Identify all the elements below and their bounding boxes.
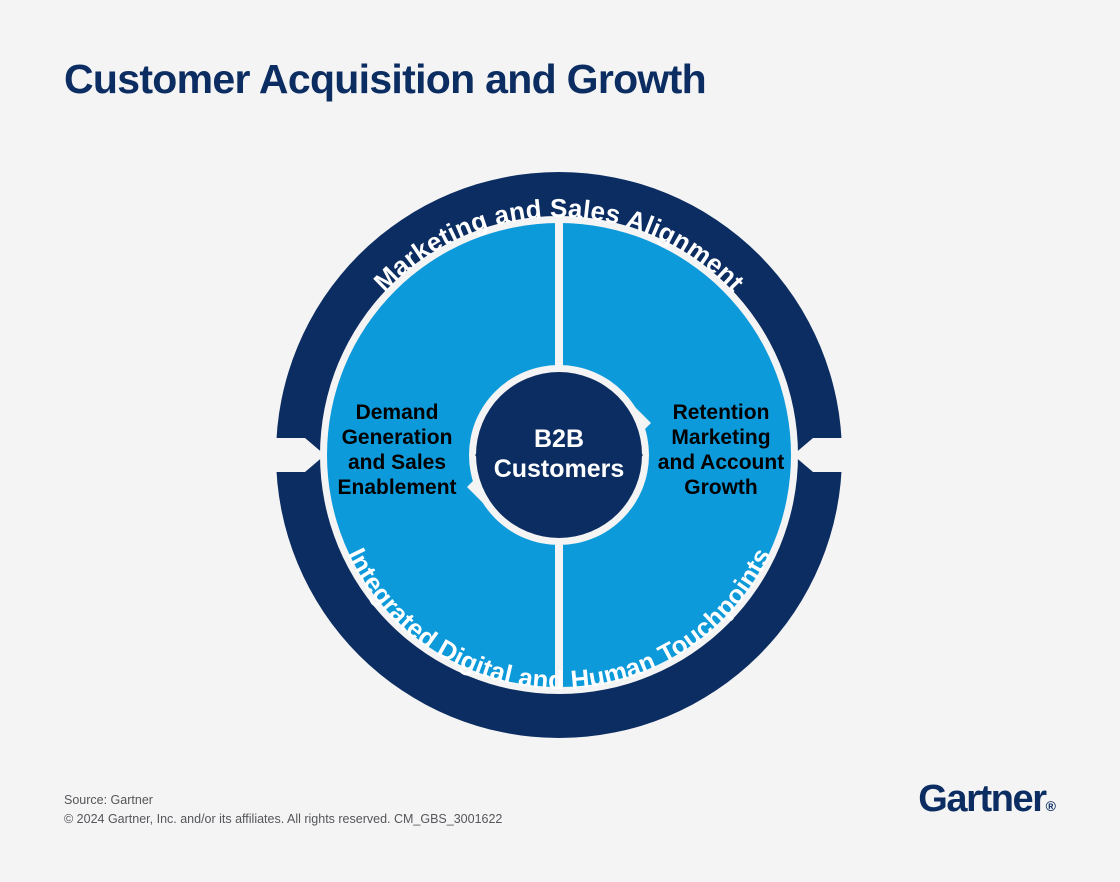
circle-diagram: Marketing and Sales Alignment Integrated…: [259, 155, 859, 745]
segment-right-line-1: Retention: [673, 401, 770, 424]
segment-left-line-1: Demand: [356, 401, 439, 424]
footer-source: Source: Gartner: [64, 791, 502, 810]
hub-line-2: Customers: [494, 455, 625, 483]
footer: Source: Gartner © 2024 Gartner, Inc. and…: [64, 791, 502, 830]
gartner-logo: Gartner®: [918, 780, 1056, 818]
gartner-logo-text: Gartner: [918, 778, 1045, 820]
page-title: Customer Acquisition and Growth: [64, 57, 706, 102]
hub-line-1: B2B: [534, 425, 584, 453]
segment-right-line-2: Marketing: [671, 426, 770, 449]
segment-left-line-3: and Sales: [348, 451, 446, 474]
registered-trademark-icon: ®: [1046, 798, 1056, 814]
footer-copyright: © 2024 Gartner, Inc. and/or its affiliat…: [64, 810, 502, 829]
segment-left-line-2: Generation: [342, 426, 453, 449]
segment-right-line-3: and Account: [658, 451, 784, 474]
segment-right-line-4: Growth: [684, 476, 758, 499]
segment-left-line-4: Enablement: [337, 476, 456, 499]
diagram-container: Marketing and Sales Alignment Integrated…: [259, 155, 859, 745]
